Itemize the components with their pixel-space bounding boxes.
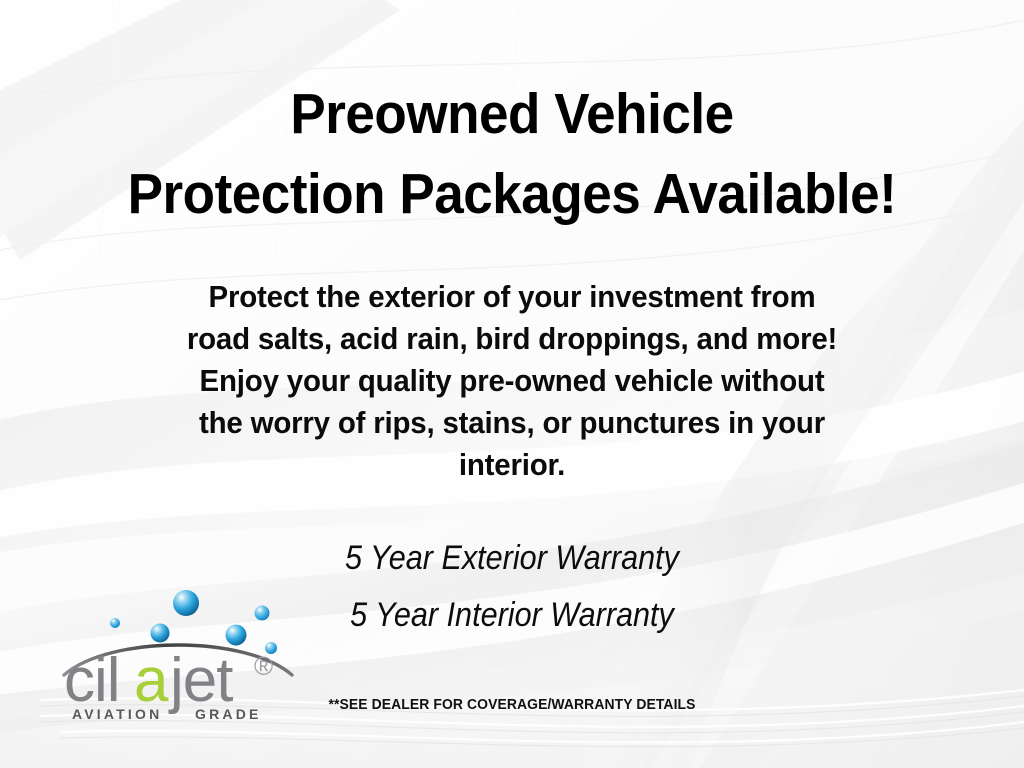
logo-wordmark-cil: cil	[64, 646, 120, 715]
logo-wordmark-jet: jet	[168, 646, 233, 715]
logo-wordmark-a: a	[134, 646, 169, 715]
cilajet-logo: cil a jet ® AVIATION GRADE	[58, 583, 298, 723]
body-copy-line-2: road salts, acid rain, bird droppings, a…	[26, 318, 999, 360]
bubble-icon	[226, 625, 247, 646]
logo-tagline-aviation: AVIATION	[72, 706, 162, 722]
logo-wordmark: cil a jet ®	[64, 646, 273, 715]
bubble-icon	[173, 590, 199, 616]
headline-line-2: Protection Packages Available!	[36, 154, 988, 234]
body-copy-line-4: the worry of rips, stains, or punctures …	[26, 402, 999, 444]
headline-line-1: Preowned Vehicle	[36, 74, 988, 154]
body-copy: Protect the exterior of your investment …	[26, 276, 999, 486]
bubble-icon	[110, 618, 120, 628]
logo-registered-mark: ®	[254, 651, 273, 681]
slide-content: Preowned Vehicle Protection Packages Ava…	[0, 0, 1024, 768]
logo-tagline-grade: GRADE	[195, 706, 262, 722]
body-copy-line-1: Protect the exterior of your investment …	[26, 276, 999, 318]
bubble-icon	[255, 606, 270, 621]
bubble-icon	[151, 624, 170, 643]
body-copy-line-3: Enjoy your quality pre-owned vehicle wit…	[26, 360, 999, 402]
slide-canvas: Preowned Vehicle Protection Packages Ava…	[0, 0, 1024, 768]
warranty-exterior: 5 Year Exterior Warranty	[51, 530, 973, 587]
body-copy-line-5: interior.	[26, 444, 999, 486]
page-title: Preowned Vehicle Protection Packages Ava…	[36, 74, 988, 234]
